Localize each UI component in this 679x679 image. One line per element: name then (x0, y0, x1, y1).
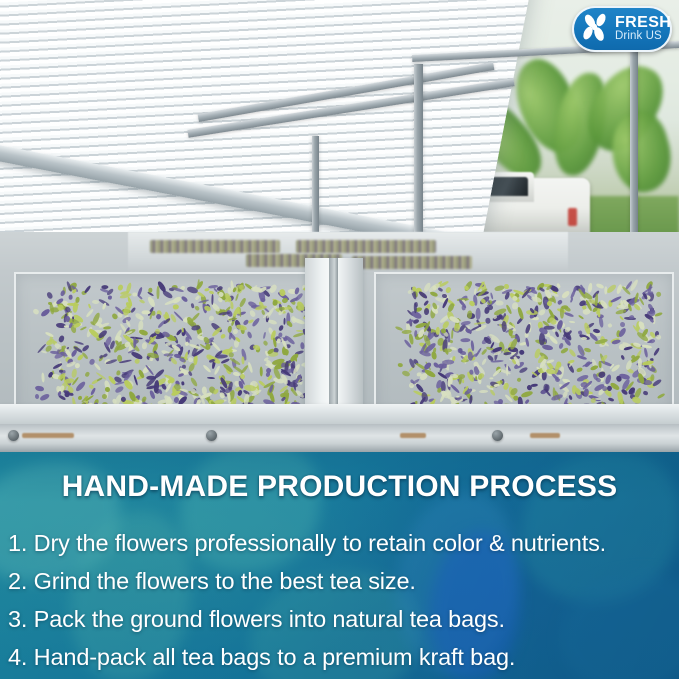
frame-bolt (206, 430, 217, 441)
list-item: 1. Dry the flowers professionally to ret… (8, 524, 676, 562)
frame-rust-mark (530, 433, 560, 438)
truck-taillight (568, 208, 577, 226)
frame-bolt (492, 430, 503, 441)
back-tray-flowers (150, 240, 280, 253)
list-item: 3. Pack the ground flowers into natural … (8, 600, 676, 638)
product-infographic: FRESH Drink US HAND-MADE PRODUCTION PROC… (0, 0, 679, 679)
frame-rust-mark (400, 433, 426, 438)
frame-rust-mark (22, 433, 74, 438)
flower-pile-left (16, 274, 344, 418)
process-step-list: 1. Dry the flowers professionally to ret… (8, 524, 676, 676)
back-tray-flowers (352, 256, 472, 269)
drying-tray-left (14, 272, 346, 420)
list-item: 4. Hand-pack all tea bags to a premium k… (8, 638, 676, 676)
frame-post (312, 136, 319, 244)
flower-petals-icon (580, 12, 612, 46)
flower-pile-right (376, 274, 672, 418)
brand-logo-text: FRESH Drink US (615, 15, 671, 43)
frame-post (630, 36, 638, 260)
brand-name-secondary: Drink US (615, 31, 671, 43)
frame-bolt (8, 430, 19, 441)
list-item: 2. Grind the flowers to the best tea siz… (8, 562, 676, 600)
center-rail (305, 258, 363, 426)
page-title: HAND-MADE PRODUCTION PROCESS (0, 470, 679, 504)
frame-post (414, 64, 423, 260)
back-tray-flowers (296, 240, 436, 253)
table-frame-front (0, 424, 679, 452)
drying-tray-right (374, 272, 674, 420)
brand-logo-badge[interactable]: FRESH Drink US (572, 6, 672, 52)
table-frame-top (0, 404, 679, 424)
greenhouse-photo: FRESH Drink US (0, 0, 679, 452)
brand-name-primary: FRESH (615, 15, 671, 31)
